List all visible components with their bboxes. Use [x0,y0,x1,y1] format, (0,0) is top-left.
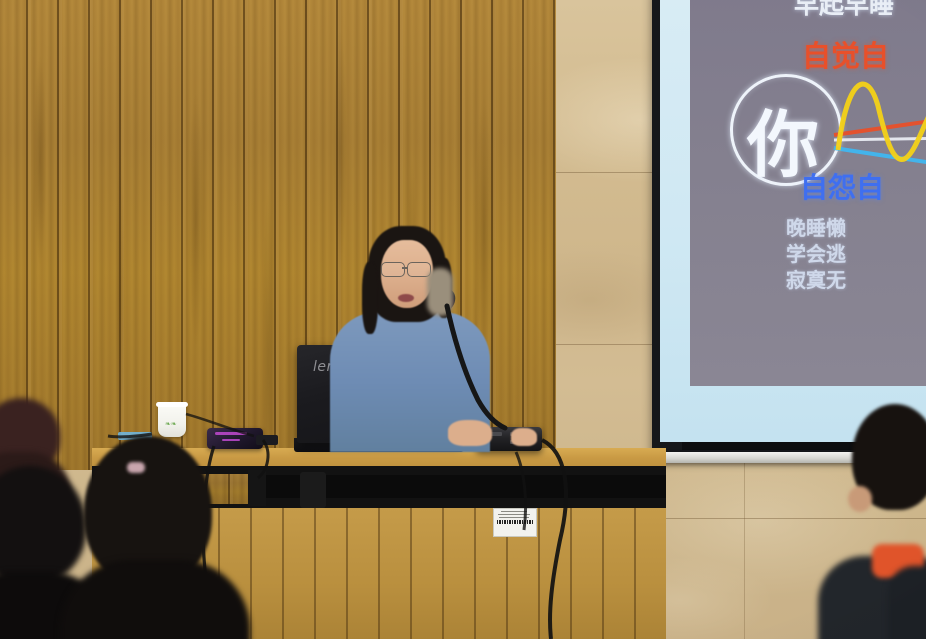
projection-screen: 早起早睡 自觉自 你 自怨自 晚睡懒 学会逃 寂寞无 [652,0,926,460]
presenter-mouth [398,294,414,302]
slide-body-line-1: 晚睡懒 [786,218,846,238]
audience-ear-right [848,486,872,512]
presenter-hand [448,420,492,446]
slide-body-line-2: 学会逃 [786,244,846,264]
audience-hair-tie [127,462,145,473]
desk-connector-block [256,435,278,445]
slide-body-line-3: 寂寞无 [786,270,846,290]
slide-heading-blue: 自怨自 [800,174,884,202]
presenter-glasses-left-lens [381,262,405,277]
podium-equipment-box [300,472,326,508]
wall-tile-seam [744,450,745,639]
presenter-hair-strand [362,262,378,334]
presenter-glasses-bridge [402,267,408,269]
desk-gadget-accent [215,432,247,435]
presenter-hand [511,428,537,446]
podium-strut [248,470,266,506]
chair-headrest [427,268,453,316]
desk-gadget-accent [222,439,240,441]
audience-jacket-right-shoulder [888,566,926,639]
paper-cup-rim [156,402,188,407]
podium-asset-label [493,508,537,537]
lecture-hall-photo: 早起早睡 自觉自 你 自怨自 晚睡懒 学会逃 寂寞无 [0,0,926,639]
paper-cup-decoration: ❧❧ [165,420,177,428]
slide-area: 早起早睡 自觉自 你 自怨自 晚睡懒 学会逃 寂寞无 [690,0,926,386]
